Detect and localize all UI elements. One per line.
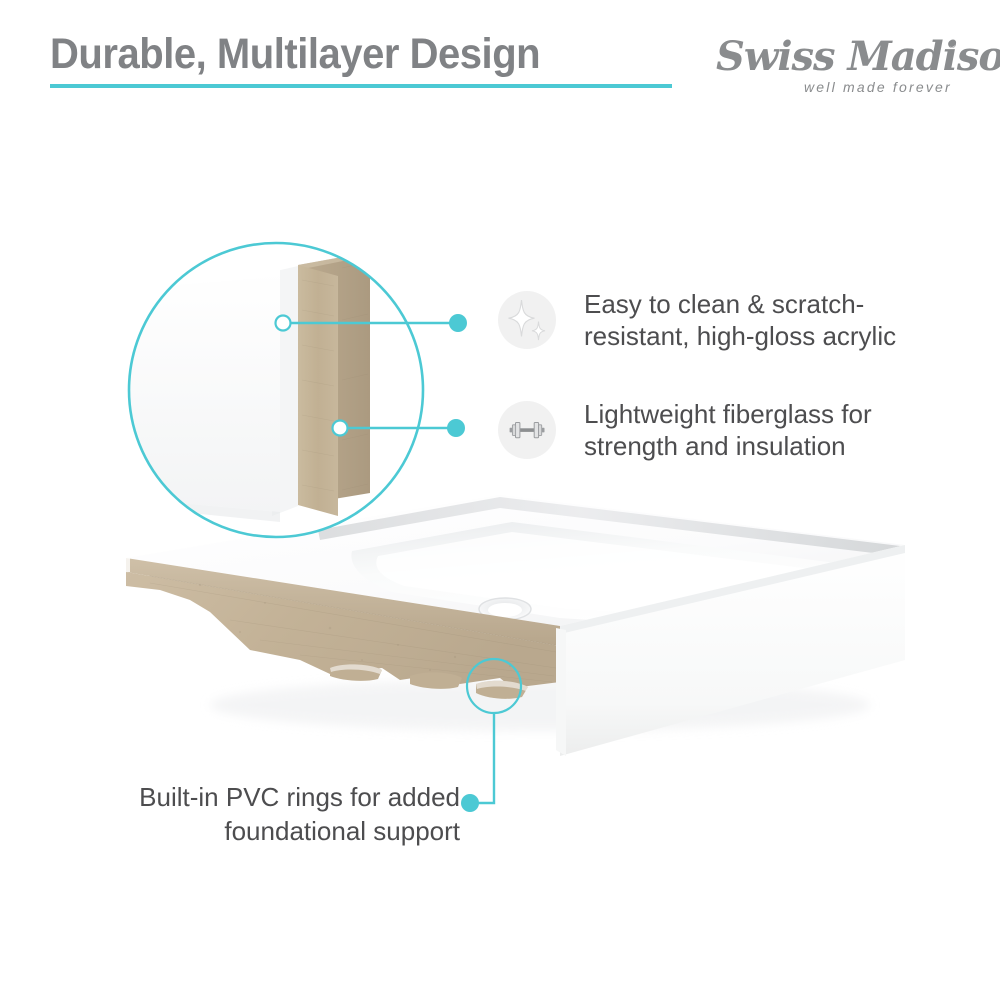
leader-anchor-acrylic — [276, 316, 291, 331]
callout-fiberglass: Lightweight fiberglass for strength and … — [498, 398, 872, 462]
magnifier-detail — [120, 243, 423, 537]
dumbbell-icon-badge — [498, 401, 556, 459]
leader-dot-acrylic — [449, 314, 467, 332]
acrylic-layer — [120, 270, 280, 512]
leader-anchor-fiberglass — [333, 421, 348, 436]
cut-edge-sliver — [556, 628, 566, 756]
layer-cross-section — [120, 252, 370, 522]
infographic-page: Durable, Multilayer Design Swiss Madison… — [0, 0, 1000, 1000]
product-illustration-svg — [0, 0, 1000, 1000]
dumbbell-icon — [498, 401, 556, 459]
product-illustration — [0, 0, 1000, 1000]
callout-acrylic-text: Easy to clean & scratch- resistant, high… — [584, 288, 896, 352]
leader-dot-pvc — [461, 794, 479, 812]
sparkle-icon — [498, 291, 556, 349]
fiberglass-block-face — [298, 265, 338, 516]
callout-acrylic: Easy to clean & scratch- resistant, high… — [498, 288, 896, 352]
callout-pvc-text: Built-in PVC rings for added foundationa… — [60, 780, 460, 848]
callout-fiberglass-text: Lightweight fiberglass for strength and … — [584, 398, 872, 462]
sparkle-icon-badge — [498, 291, 556, 349]
leader-dot-fiberglass — [447, 419, 465, 437]
drain-hole-inner — [488, 603, 522, 617]
